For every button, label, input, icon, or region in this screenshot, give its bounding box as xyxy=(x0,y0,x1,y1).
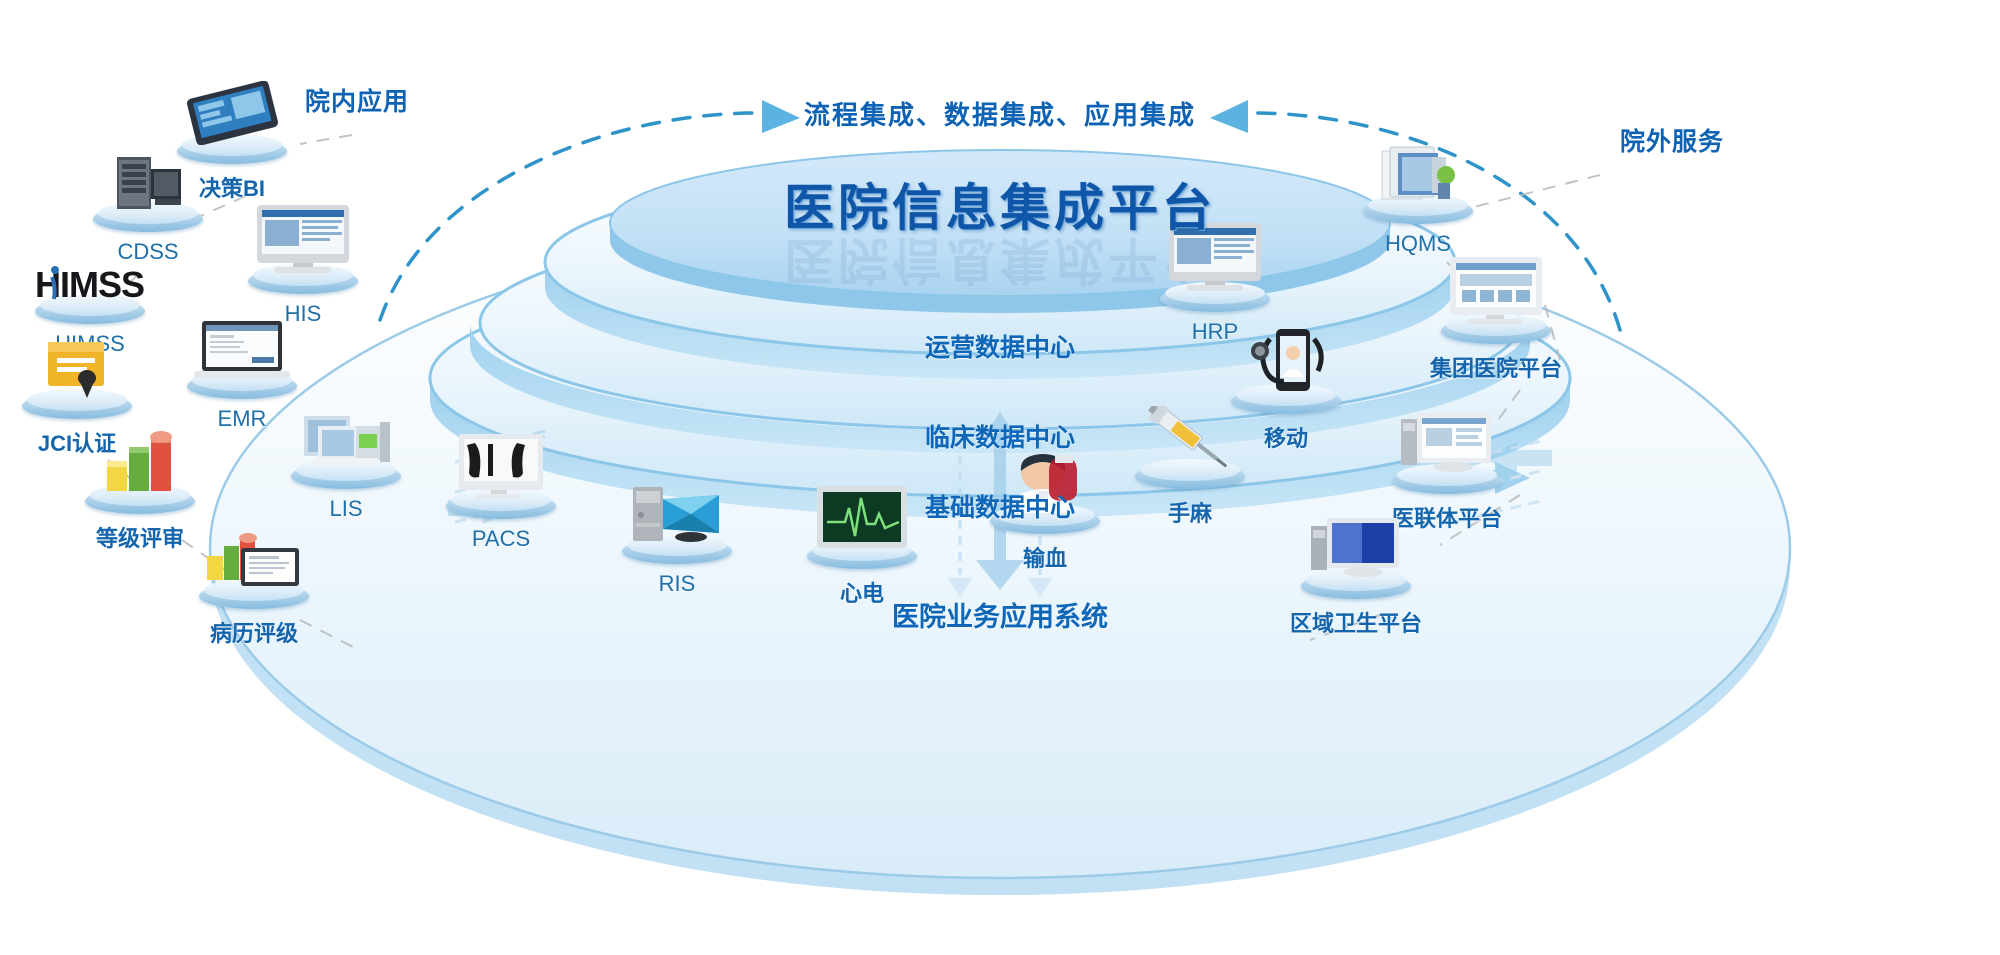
diagram-canvas: 院内应用 院外服务 流程集成、数据集成、应用集成 医院信息集成平台 医院信息集成… xyxy=(0,0,2000,955)
pedestal-emr xyxy=(187,365,297,399)
pedestal-himss: HIMSS xyxy=(35,290,145,324)
layer-label-clinical: 临床数据中心 xyxy=(0,418,2000,454)
node-ris[interactable]: RIS xyxy=(622,530,732,597)
layer-label-foundation: 基础数据中心 xyxy=(0,488,2000,524)
pedestal-his xyxy=(248,260,358,294)
node-label-pacs: PACS xyxy=(472,526,530,552)
node-label-ris: RIS xyxy=(659,571,696,597)
himss-logo-icon: HIMSS xyxy=(32,261,148,310)
pedestal-jci xyxy=(22,385,132,419)
top-flow-label: 流程集成、数据集成、应用集成 xyxy=(0,95,2000,132)
pedestal-lis xyxy=(291,455,401,489)
layer-label-operational: 运营数据中心 xyxy=(0,328,2000,364)
business-systems-label: 医院业务应用系统 xyxy=(0,595,2000,634)
chart-laptop-icon xyxy=(205,526,303,595)
pedestal-ris xyxy=(622,530,732,564)
node-label-transfusion: 输血 xyxy=(1023,541,1067,573)
monitor-icon xyxy=(1448,255,1544,330)
platform-title: 医院信息集成平台 xyxy=(0,168,2000,240)
pedestal-decision-bi xyxy=(177,130,287,164)
node-label-grade-review: 等级评审 xyxy=(96,521,184,553)
pedestal-ecg xyxy=(807,535,917,569)
blue-monitor-icon xyxy=(1309,516,1403,585)
pedestal-hrp xyxy=(1160,278,1270,312)
pedestal-mobile xyxy=(1231,380,1341,414)
pedestal-regional-health xyxy=(1301,565,1411,599)
pedestal-anesthesia xyxy=(1135,455,1245,489)
